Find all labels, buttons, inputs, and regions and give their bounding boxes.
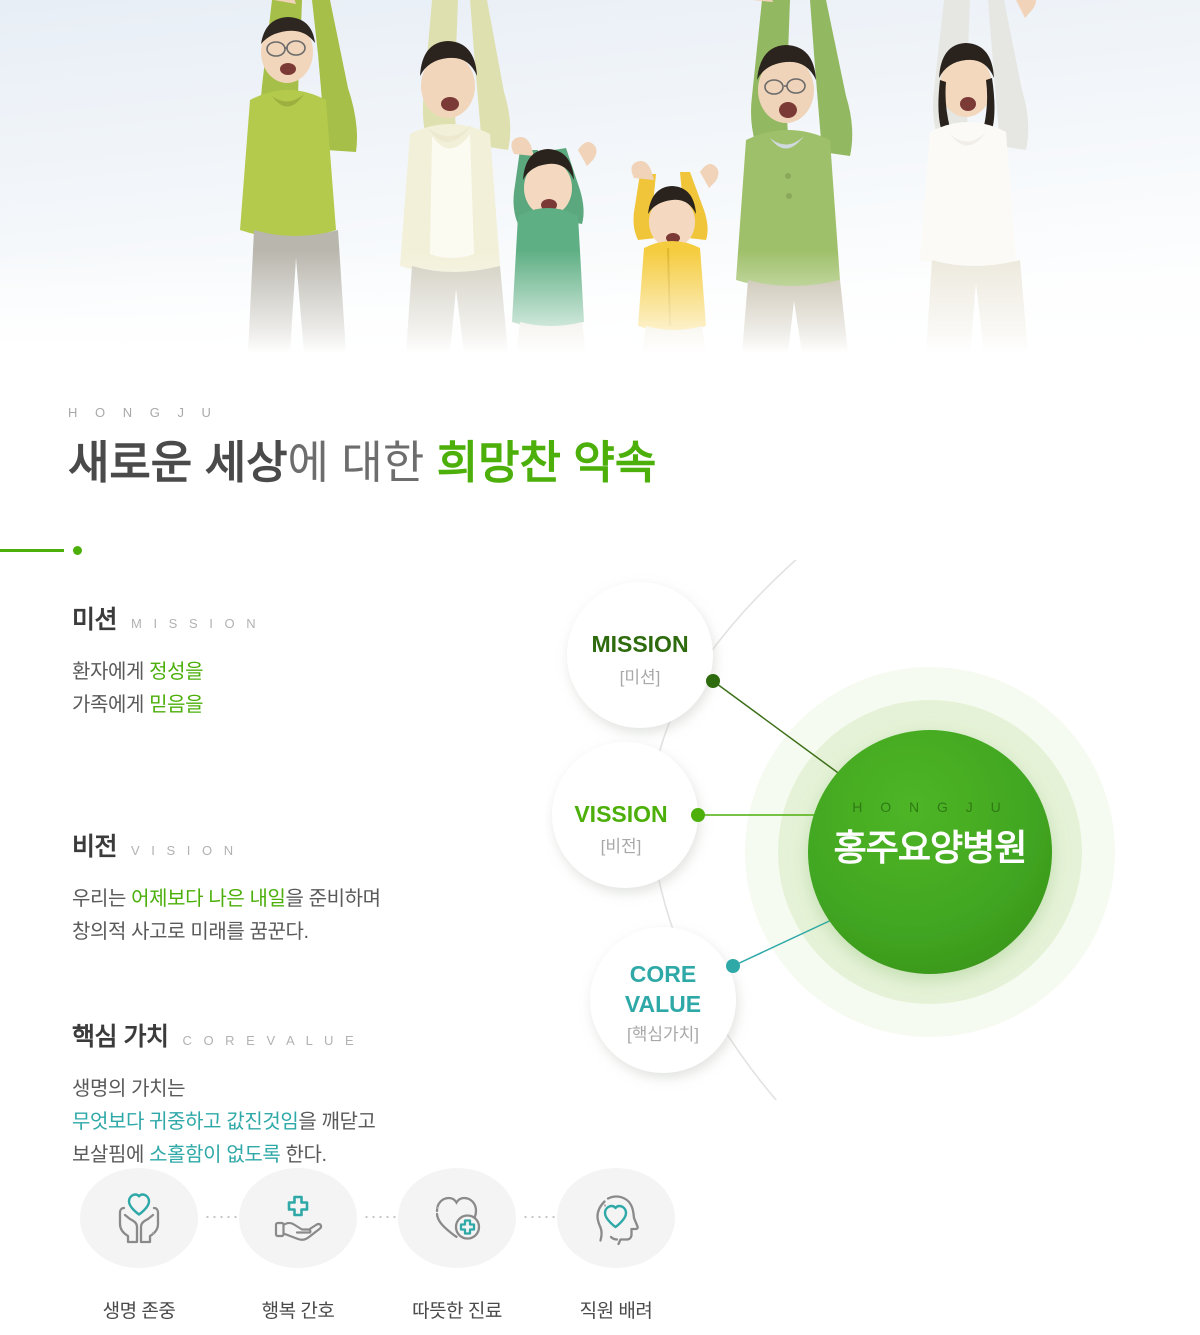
mission-vision-diagram: H O N G J U 홍주요양병원 MISSION [미션] VISSION … bbox=[545, 560, 1185, 1100]
center-hospital-name: 홍주요양병원 bbox=[834, 827, 1027, 868]
core-bubble-en-line2: VALUE bbox=[625, 991, 701, 1017]
core-bubble-en-line1: CORE bbox=[630, 961, 696, 987]
text-run-accent: 어제보다 나은 내일 bbox=[131, 888, 285, 910]
text-run: 우리는 bbox=[72, 888, 131, 910]
mission-heading: 미션 M I S S I O N bbox=[72, 600, 260, 636]
divider-bar bbox=[0, 549, 64, 552]
text-run-accent: 무엇보다 귀중하고 값진것임 bbox=[72, 1111, 298, 1133]
vision-line-2: 창의적 사고로 미래를 꿈꾼다. bbox=[72, 916, 381, 949]
vision-line-1: 우리는 어제보다 나은 내일을 준비하며 bbox=[72, 883, 381, 916]
value-item-happy-nursing[interactable]: 행복 간호 bbox=[237, 1168, 359, 1323]
core-value-body: 생명의 가치는 무엇보다 귀중하고 값진것임을 깨닫고 보살핌에 소홀함이 없도… bbox=[72, 1073, 376, 1172]
text-run-accent: 정성을 bbox=[149, 661, 203, 683]
title-part-accent: 희망찬 약속 bbox=[437, 437, 657, 488]
title-part-light: 에 대한 bbox=[288, 437, 437, 488]
vision-body: 우리는 어제보다 나은 내일을 준비하며 창의적 사고로 미래를 꿈꾼다. bbox=[72, 883, 381, 949]
text-run: 보살핌에 bbox=[72, 1144, 149, 1166]
title-divider bbox=[0, 545, 200, 555]
text-run-accent: 소홀함이 없도록 bbox=[149, 1144, 280, 1166]
text-run-accent: 믿음을 bbox=[149, 694, 203, 716]
about-page: H O N G J U 새로운 세상에 대한 희망찬 약속 미션 M I S S… bbox=[0, 0, 1200, 1335]
page-title: 새로운 세상에 대한 희망찬 약속 bbox=[68, 436, 868, 490]
diagram-node-vission[interactable]: VISSION [비전] bbox=[552, 742, 705, 888]
vision-heading-ko: 비전 bbox=[72, 827, 117, 863]
hands-holding-heart-icon bbox=[108, 1189, 170, 1247]
page-title-block: H O N G J U 새로운 세상에 대한 희망찬 약속 bbox=[68, 405, 868, 490]
vission-connector-dot bbox=[691, 808, 705, 822]
mission-connector-dot bbox=[706, 674, 720, 688]
mission-line-1: 환자에게 정성을 bbox=[72, 656, 260, 689]
mission-heading-ko: 미션 bbox=[72, 600, 117, 636]
text-run: 을 깨닫고 bbox=[298, 1111, 375, 1133]
core-connector-dot bbox=[726, 959, 740, 973]
value-icon-bg bbox=[557, 1168, 675, 1268]
value-icon-bg bbox=[80, 1168, 198, 1268]
value-label-staff-care: 직원 배려 bbox=[555, 1296, 677, 1323]
value-item-warm-care[interactable]: 따뜻한 진료 bbox=[396, 1168, 518, 1323]
text-run: 환자에게 bbox=[72, 661, 149, 683]
diagram-node-core-value[interactable]: CORE VALUE [핵심가치] bbox=[590, 927, 740, 1073]
mission-heading-en: M I S S I O N bbox=[131, 616, 260, 631]
value-item-staff-care[interactable]: 직원 배려 bbox=[555, 1168, 677, 1323]
center-eyebrow: H O N G J U bbox=[852, 799, 1008, 815]
value-label-happy-nursing: 행복 간호 bbox=[237, 1296, 359, 1323]
text-run: 한다. bbox=[280, 1144, 326, 1166]
value-label-respect-life: 생명 존중 bbox=[78, 1296, 200, 1323]
core-value-line-2: 무엇보다 귀중하고 값진것임을 깨닫고 bbox=[72, 1106, 376, 1139]
mission-group: 미션 M I S S I O N 환자에게 정성을 가족에게 믿음을 bbox=[72, 600, 260, 722]
text-run: 을 준비하며 bbox=[286, 888, 381, 910]
hero-banner bbox=[0, 0, 1200, 353]
mission-bubble-ko: [미션] bbox=[620, 668, 661, 687]
heart-with-cross-icon bbox=[426, 1189, 488, 1247]
vision-heading: 비전 V I S I O N bbox=[72, 827, 381, 863]
vision-heading-en: V I S I O N bbox=[131, 843, 237, 858]
core-values-icon-row: 생명 존중 행복 간호 bbox=[78, 1168, 718, 1328]
hand-with-cross-icon bbox=[267, 1189, 329, 1247]
vission-bubble-en: VISSION bbox=[574, 801, 667, 827]
core-value-line-1: 생명의 가치는 bbox=[72, 1073, 376, 1106]
core-value-heading-ko: 핵심 가치 bbox=[72, 1017, 168, 1053]
core-bubble-ko: [핵심가치] bbox=[627, 1025, 699, 1044]
title-part-strong: 새로운 세상 bbox=[68, 437, 288, 488]
value-icon-bg bbox=[398, 1168, 516, 1268]
divider-dot bbox=[73, 546, 82, 555]
title-eyebrow: H O N G J U bbox=[68, 405, 868, 420]
hero-photo-family bbox=[0, 0, 1200, 353]
mission-bubble-en: MISSION bbox=[591, 631, 688, 657]
text-run: 가족에게 bbox=[72, 694, 149, 716]
value-item-respect-life[interactable]: 생명 존중 bbox=[78, 1168, 200, 1323]
core-value-heading: 핵심 가치 C O R E V A L U E bbox=[72, 1017, 376, 1053]
vision-group: 비전 V I S I O N 우리는 어제보다 나은 내일을 준비하며 창의적 … bbox=[72, 827, 381, 949]
value-icon-bg bbox=[239, 1168, 357, 1268]
vission-bubble-ko: [비전] bbox=[601, 837, 642, 856]
head-with-heart-icon bbox=[585, 1189, 647, 1247]
mission-body: 환자에게 정성을 가족에게 믿음을 bbox=[72, 656, 260, 722]
diagram-svg: H O N G J U 홍주요양병원 MISSION [미션] VISSION … bbox=[545, 560, 1185, 1100]
text-run: 생명의 가치는 bbox=[72, 1078, 185, 1100]
value-label-warm-care: 따뜻한 진료 bbox=[396, 1296, 518, 1323]
core-value-heading-en: C O R E V A L U E bbox=[182, 1033, 357, 1048]
mission-line-2: 가족에게 믿음을 bbox=[72, 689, 260, 722]
diagram-node-mission[interactable]: MISSION [미션] bbox=[567, 582, 720, 728]
core-value-group: 핵심 가치 C O R E V A L U E 생명의 가치는 무엇보다 귀중하… bbox=[72, 1017, 376, 1172]
text-run: 창의적 사고로 미래를 꿈꾼다. bbox=[72, 921, 309, 943]
